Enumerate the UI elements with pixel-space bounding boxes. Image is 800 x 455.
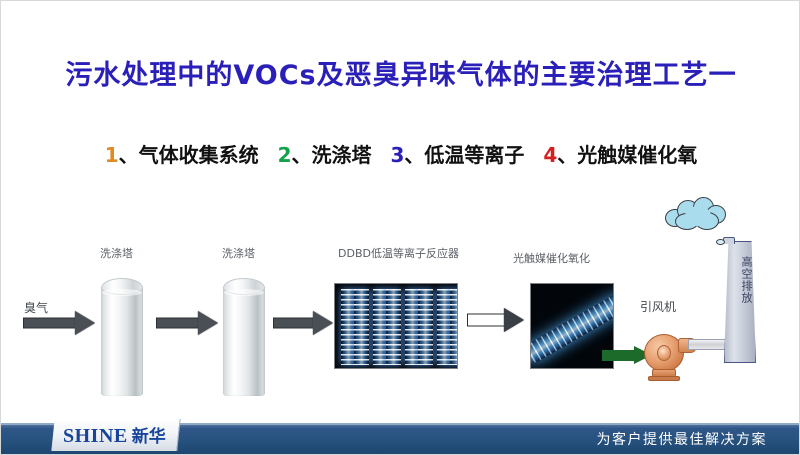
fan-label: 引风机	[640, 298, 676, 315]
photocatalysis-label: 光触媒催化氧化	[513, 250, 590, 266]
step-3-label: 低温等离子	[424, 143, 524, 167]
emission-cloud-icon	[665, 197, 727, 231]
step-1-label: 气体收集系统	[139, 143, 259, 167]
duct-pipe	[688, 339, 730, 350]
step-3-separator: 、	[404, 143, 424, 167]
scrubber-1-label: 洗涤塔	[100, 245, 133, 261]
scrubber-tower-2	[223, 278, 265, 396]
step-4-label: 光触媒催化氧	[577, 143, 697, 167]
process-step-2: 2、洗涤塔	[278, 143, 372, 167]
company-logo: SHINE 新华	[51, 419, 180, 451]
emission-bubble-icon	[716, 239, 725, 245]
step-4-separator: 、	[557, 143, 577, 167]
plasma-reactor-photo	[334, 283, 458, 369]
flow-arrow-2	[273, 311, 335, 335]
step-1-number: 1	[105, 143, 119, 167]
page-title: 污水处理中的VOCs及恶臭异味气体的主要治理工艺一	[1, 53, 800, 92]
process-step-1: 1、气体收集系统	[105, 143, 259, 167]
flow-arrow-3	[467, 307, 529, 333]
step-4-number: 4	[543, 143, 557, 167]
scrubber-tower-1	[101, 278, 143, 396]
process-step-list: 1、气体收集系统 2、洗涤塔 3、低温等离子 4、光触媒催化氧	[1, 139, 800, 168]
flow-arrow-inlet	[23, 311, 95, 335]
process-step-4: 4、光触媒催化氧	[543, 143, 697, 167]
step-3-number: 3	[390, 143, 404, 167]
logo-text-cn: 新华	[132, 422, 166, 447]
step-2-number: 2	[278, 143, 292, 167]
slide-canvas: 污水处理中的VOCs及恶臭异味气体的主要治理工艺一 1、气体收集系统 2、洗涤塔…	[0, 0, 800, 455]
step-1-separator: 、	[119, 143, 139, 167]
footer-bar: SHINE 新华 为客户提供最佳解决方案	[1, 423, 800, 454]
process-step-3: 3、低温等离子	[390, 143, 524, 167]
footer-tagline: 为客户提供最佳解决方案	[597, 429, 768, 449]
flow-arrow-1	[156, 311, 220, 335]
plasma-reactor-label: DDBD低温等离子反应器	[338, 245, 459, 261]
logo-text-en: SHINE	[63, 425, 128, 448]
step-2-separator: 、	[292, 143, 312, 167]
scrubber-2-label: 洗涤塔	[222, 245, 255, 261]
step-2-label: 洗涤塔	[312, 143, 372, 167]
stack-label: 高空排放	[728, 256, 752, 304]
